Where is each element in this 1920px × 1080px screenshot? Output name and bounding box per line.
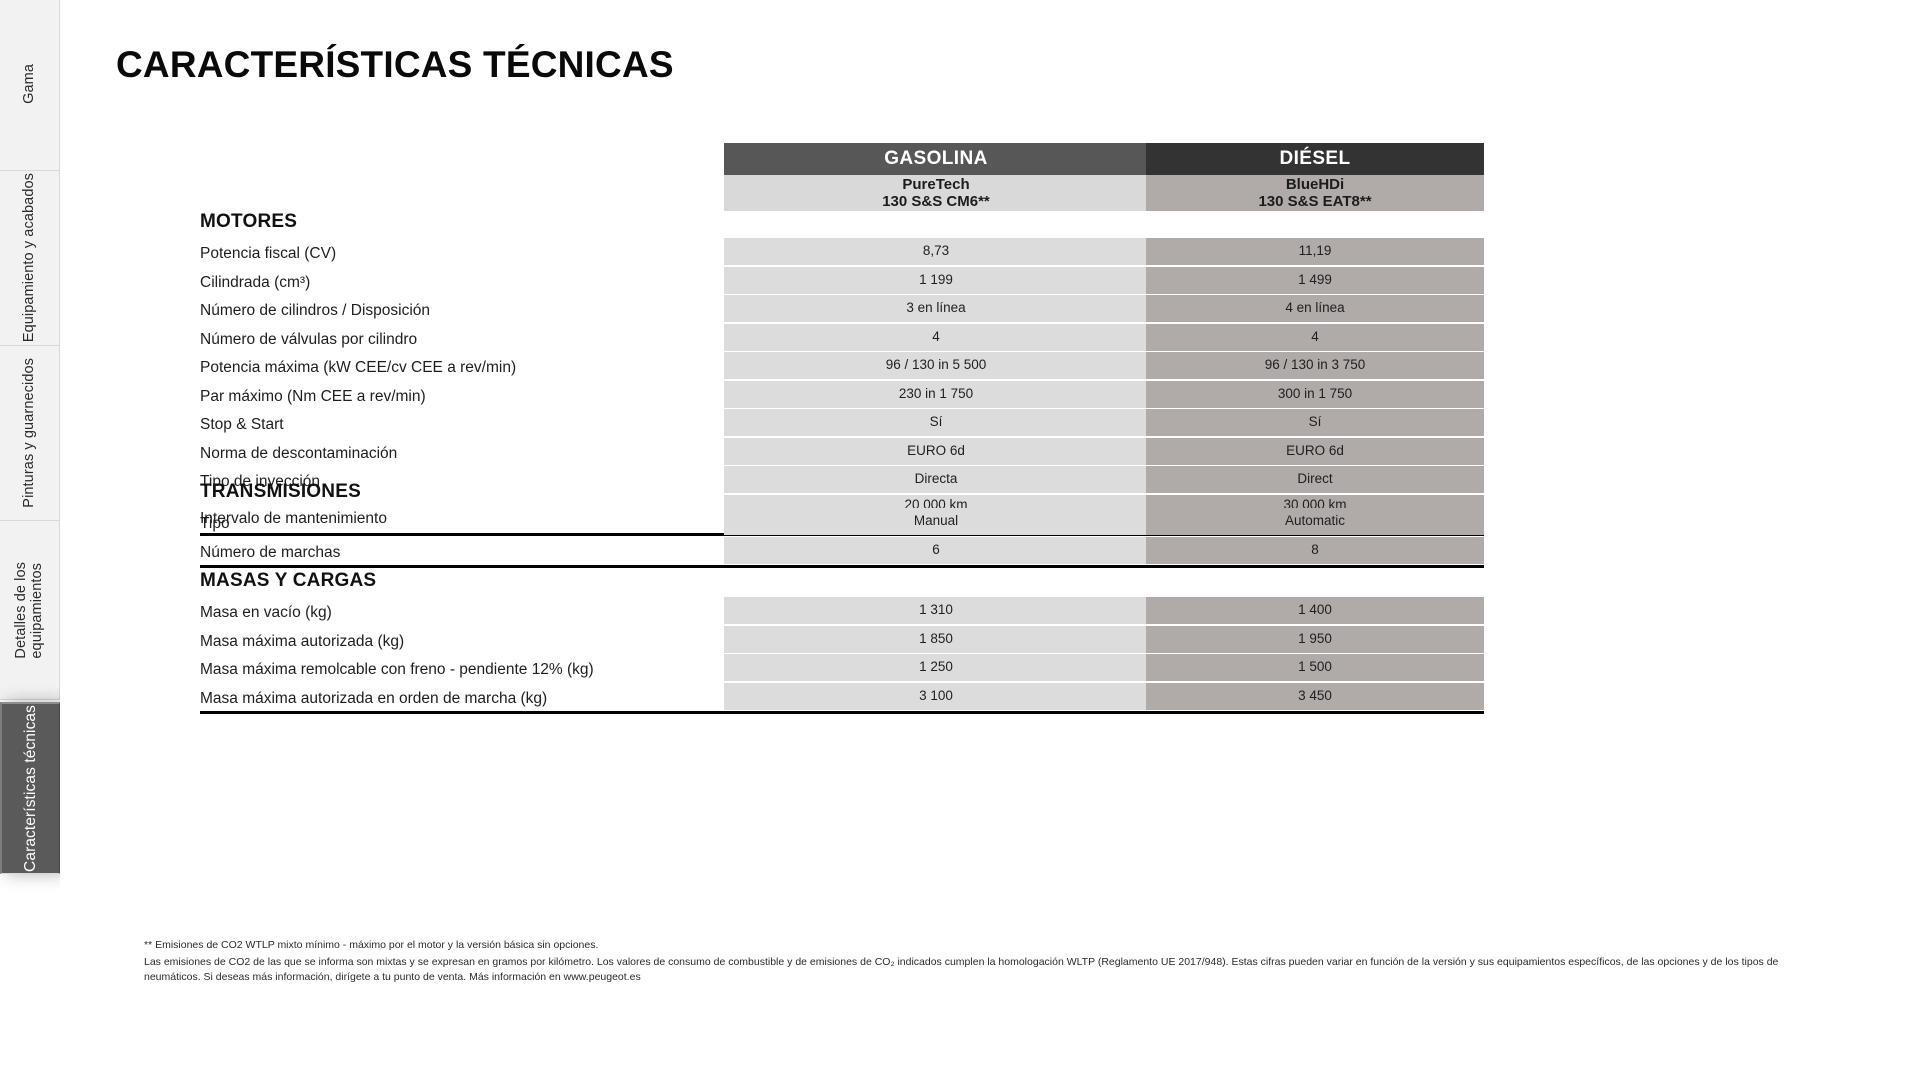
cell-gasolina: 96 / 130 in 5 500 — [724, 352, 1148, 379]
row-label: Número de marchas — [200, 545, 340, 561]
cell-value: 1 850 — [919, 631, 953, 647]
sidebar-tab-3[interactable]: Pinturas y guarnecidos — [0, 346, 60, 521]
sidebar-tab-4[interactable]: Detalles de los equipamientos — [0, 521, 60, 700]
cell-diesel: 4 — [1146, 324, 1484, 351]
cell-value: 6 — [932, 542, 940, 558]
sidebar-tab-label: Características técnicas — [22, 705, 39, 872]
column-header-diesel: DIÉSELBlueHDi130 S&S EAT8** — [1146, 143, 1484, 211]
cell-value: 8,73 — [923, 243, 949, 259]
cell-diesel: 8 — [1146, 537, 1484, 564]
cell-gasolina: 3 100 — [724, 683, 1148, 710]
spec-sheet-page: CARACTERÍSTICAS TÉCNICAS GASOLINAPureTec… — [60, 0, 1920, 1080]
footnote-line-1: ** Emisiones de CO2 WTLP mixto mínimo - … — [144, 938, 1834, 953]
cell-diesel: 1 499 — [1146, 267, 1484, 294]
row-label: Norma de descontaminación — [200, 446, 397, 462]
cell-value: EURO 6d — [1286, 443, 1344, 459]
section-title-2: MASAS Y CARGAS — [200, 570, 376, 592]
cell-value: 1 199 — [919, 272, 953, 288]
cell-value: Directa — [915, 471, 958, 487]
row-label: Masa máxima autorizada (kg) — [200, 634, 404, 650]
cell-gasolina: Manual — [724, 508, 1148, 535]
row-label: Par máximo (Nm CEE a rev/min) — [200, 389, 426, 405]
cell-diesel: 3 450 — [1146, 683, 1484, 710]
row-label: Masa máxima autorizada en orden de march… — [200, 691, 547, 707]
cell-diesel: 1 400 — [1146, 597, 1484, 624]
column-engine-spec-gasolina: 130 S&S CM6** — [882, 193, 990, 210]
cell-gasolina: 230 in 1 750 — [724, 381, 1148, 408]
column-engine-block-diesel: BlueHDi130 S&S EAT8** — [1146, 175, 1484, 211]
cell-diesel: 11,19 — [1146, 238, 1484, 265]
cell-gasolina: 1 199 — [724, 267, 1148, 294]
section-title-1: TRANSMISIONES — [200, 481, 361, 503]
column-engine-name-gasolina: PureTech — [902, 176, 969, 193]
section-rule-right — [1146, 711, 1484, 714]
cell-value: 1 400 — [1298, 602, 1332, 618]
cell-value: 8 — [1311, 542, 1319, 558]
sidebar-tab-2[interactable]: Equipamiento y acabados — [0, 171, 60, 346]
cell-diesel: 4 en línea — [1146, 295, 1484, 322]
column-engine-spec-diesel: 130 S&S EAT8** — [1258, 193, 1371, 210]
cell-value: 96 / 130 in 3 750 — [1265, 357, 1366, 373]
sidebar-tab-rail: GamaEquipamiento y acabadosPinturas y gu… — [0, 0, 60, 1080]
cell-gasolina: 3 en línea — [724, 295, 1148, 322]
column-fuel-label-diesel: DIÉSEL — [1146, 143, 1484, 175]
page-title: CARACTERÍSTICAS TÉCNICAS — [116, 44, 674, 86]
row-label: Masa en vacío (kg) — [200, 605, 332, 621]
cell-value: EURO 6d — [907, 443, 965, 459]
cell-value: 96 / 130 in 5 500 — [886, 357, 987, 373]
section-rule-left — [200, 711, 1148, 714]
cell-diesel: 1 500 — [1146, 654, 1484, 681]
row-label: Número de válvulas por cilindro — [200, 332, 417, 348]
cell-value: 3 100 — [919, 688, 953, 704]
column-engine-name-diesel: BlueHDi — [1286, 176, 1344, 193]
cell-value: Direct — [1297, 471, 1332, 487]
row-label: Potencia máxima (kW CEE/cv CEE a rev/min… — [200, 360, 516, 376]
cell-value: 4 en línea — [1285, 300, 1344, 316]
cell-value: 230 in 1 750 — [899, 386, 973, 402]
cell-value: 1 499 — [1298, 272, 1332, 288]
cell-gasolina: 1 850 — [724, 626, 1148, 653]
cell-gasolina: 1 310 — [724, 597, 1148, 624]
cell-value: 4 — [932, 329, 940, 345]
cell-gasolina: EURO 6d — [724, 438, 1148, 465]
cell-diesel: Automatic — [1146, 508, 1484, 535]
cell-diesel: 96 / 130 in 3 750 — [1146, 352, 1484, 379]
cell-diesel: Sí — [1146, 409, 1484, 436]
cell-value: 1 310 — [919, 602, 953, 618]
sidebar-tab-1[interactable]: Gama — [0, 0, 60, 171]
column-fuel-label-gasolina: GASOLINA — [724, 143, 1148, 175]
column-engine-block-gasolina: PureTech130 S&S CM6** — [724, 175, 1148, 211]
sidebar-tab-label: Equipamiento y acabados — [21, 173, 37, 342]
sidebar-tab-5[interactable]: Características técnicas — [0, 702, 60, 874]
cell-value: 3 450 — [1298, 688, 1332, 704]
footnotes-block: ** Emisiones de CO2 WTLP mixto mínimo - … — [144, 938, 1834, 986]
column-header-gasolina: GASOLINAPureTech130 S&S CM6** — [724, 143, 1148, 211]
section-title-0: MOTORES — [200, 211, 297, 233]
sidebar-tab-label: Gama — [21, 64, 37, 104]
section-rule-left — [200, 565, 1148, 568]
row-label: Masa máxima remolcable con freno - pendi… — [200, 662, 594, 678]
sidebar-tab-label: Pinturas y guarnecidos — [21, 358, 37, 508]
cell-gasolina: 6 — [724, 537, 1148, 564]
cell-diesel: 1 950 — [1146, 626, 1484, 653]
cell-value: 300 in 1 750 — [1278, 386, 1352, 402]
cell-value: 3 en línea — [906, 300, 965, 316]
cell-gasolina: 1 250 — [724, 654, 1148, 681]
cell-gasolina: 4 — [724, 324, 1148, 351]
section-rule-right — [1146, 565, 1484, 568]
cell-value: Sí — [1309, 414, 1322, 430]
row-label: Stop & Start — [200, 417, 284, 433]
cell-value: Automatic — [1285, 513, 1345, 529]
cell-diesel: EURO 6d — [1146, 438, 1484, 465]
row-label: Tipo — [200, 516, 230, 532]
cell-value: 11,19 — [1299, 243, 1332, 259]
row-label: Cilindrada (cm³) — [200, 275, 310, 291]
cell-gasolina: 8,73 — [724, 238, 1148, 265]
cell-gasolina: Sí — [724, 409, 1148, 436]
cell-gasolina: Directa — [724, 466, 1148, 493]
cell-value: 4 — [1311, 329, 1319, 345]
cell-value: 1 950 — [1298, 631, 1332, 647]
cell-value: Sí — [930, 414, 943, 430]
cell-diesel: 300 in 1 750 — [1146, 381, 1484, 408]
footnote-line-2: Las emisiones de CO2 de las que se infor… — [144, 955, 1834, 985]
sidebar-tab-label: Detalles de los equipamientos — [13, 562, 45, 659]
cell-value: Manual — [914, 513, 958, 529]
row-label: Número de cilindros / Disposición — [200, 303, 430, 319]
cell-value: 1 250 — [919, 659, 953, 675]
cell-diesel: Direct — [1146, 466, 1484, 493]
row-label: Potencia fiscal (CV) — [200, 246, 336, 262]
cell-value: 1 500 — [1298, 659, 1332, 675]
